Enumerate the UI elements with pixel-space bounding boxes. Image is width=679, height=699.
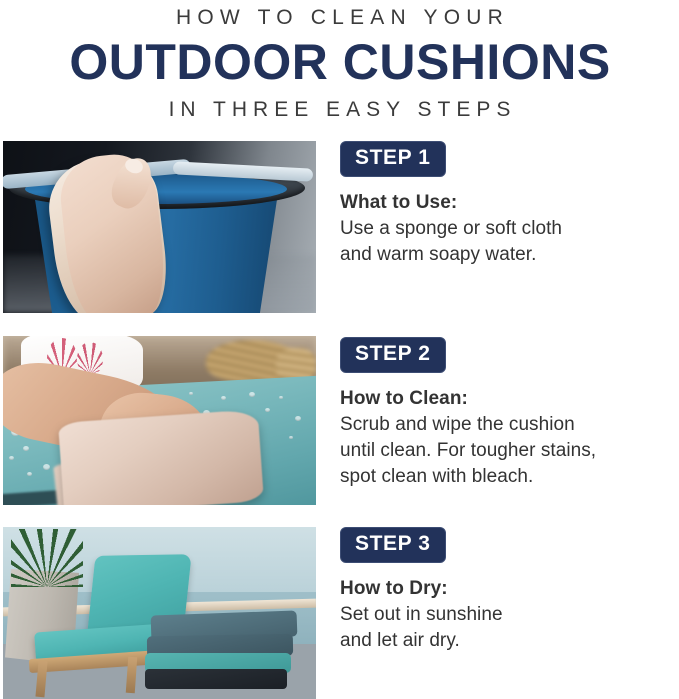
- step-1-subhead: What to Use:: [340, 191, 676, 215]
- step-2-photo: [3, 336, 316, 505]
- stacked-cushion-4: [145, 669, 287, 689]
- agave-plant: [11, 529, 83, 587]
- step-1-content: STEP 1 What to Use: Use a sponge or soft…: [340, 141, 676, 268]
- step-3-body: Set out in sunshine and let air dry.: [340, 602, 676, 654]
- step-3-subhead: How to Dry:: [340, 577, 676, 601]
- infographic-page: HOW TO CLEAN YOUR OUTDOOR CUSHIONS IN TH…: [0, 0, 679, 699]
- page-title: OUTDOOR CUSHIONS: [0, 33, 679, 91]
- step-3-badge: STEP 3: [340, 527, 446, 563]
- step-row-1: STEP 1 What to Use: Use a sponge or soft…: [0, 141, 679, 313]
- step-row-2: STEP 2 How to Clean: Scrub and wipe the …: [0, 336, 679, 505]
- step-1-badge: STEP 1: [340, 141, 446, 177]
- step-row-3: STEP 3 How to Dry: Set out in sunshine a…: [0, 527, 679, 699]
- step-3-content: STEP 3 How to Dry: Set out in sunshine a…: [340, 527, 676, 654]
- step-2-badge: STEP 2: [340, 337, 446, 373]
- towel: [58, 409, 264, 505]
- step-2-content: STEP 2 How to Clean: Scrub and wipe the …: [340, 337, 676, 490]
- step-1-photo: [3, 141, 316, 313]
- step-3-photo: [3, 527, 316, 699]
- step-2-body: Scrub and wipe the cushion until clean. …: [340, 412, 676, 490]
- header-line-sub: IN THREE EASY STEPS: [0, 95, 679, 125]
- stacked-cushions: [145, 613, 297, 691]
- page-header: HOW TO CLEAN YOUR OUTDOOR CUSHIONS IN TH…: [0, 0, 679, 125]
- header-line-top: HOW TO CLEAN YOUR: [0, 4, 679, 32]
- step-2-subhead: How to Clean:: [340, 387, 676, 411]
- step-1-body: Use a sponge or soft cloth and warm soap…: [340, 216, 676, 268]
